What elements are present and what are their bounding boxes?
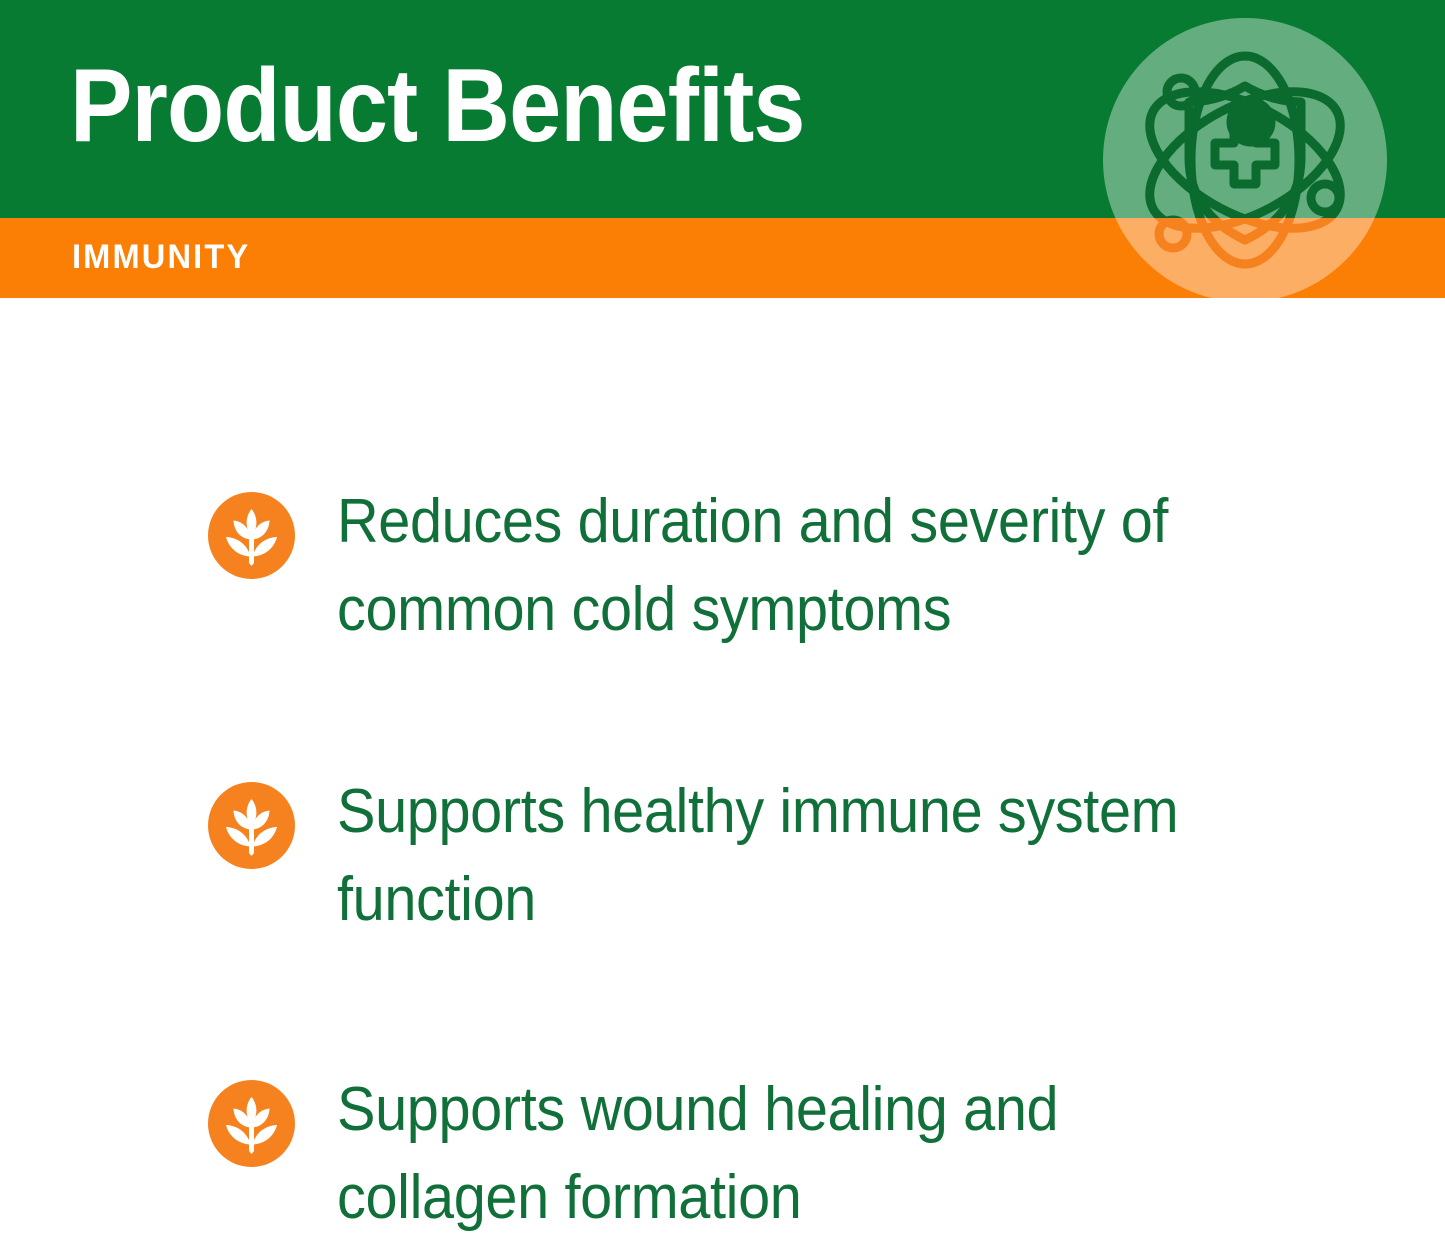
list-item: Reduces duration and severity of common …	[0, 478, 1445, 654]
product-benefits-card: Product Benefits IMMUNITY Reduces durati…	[0, 0, 1445, 1255]
leaf-sprout-icon	[208, 492, 295, 579]
list-item: Supports healthy immune system function	[0, 768, 1445, 944]
page-title: Product Benefits	[70, 50, 804, 162]
header-category-label: IMMUNITY	[72, 236, 250, 278]
benefit-text: Supports wound healing and collagen form…	[337, 1066, 1202, 1242]
immunity-atom-shield-icon	[1103, 18, 1387, 298]
benefit-text: Reduces duration and severity of common …	[337, 478, 1202, 654]
leaf-sprout-icon	[208, 782, 295, 869]
card-header: Product Benefits IMMUNITY	[0, 0, 1445, 298]
leaf-sprout-icon	[208, 1080, 295, 1167]
benefit-text: Supports healthy immune system function	[337, 768, 1202, 944]
list-item: Supports wound healing and collagen form…	[0, 1066, 1445, 1242]
